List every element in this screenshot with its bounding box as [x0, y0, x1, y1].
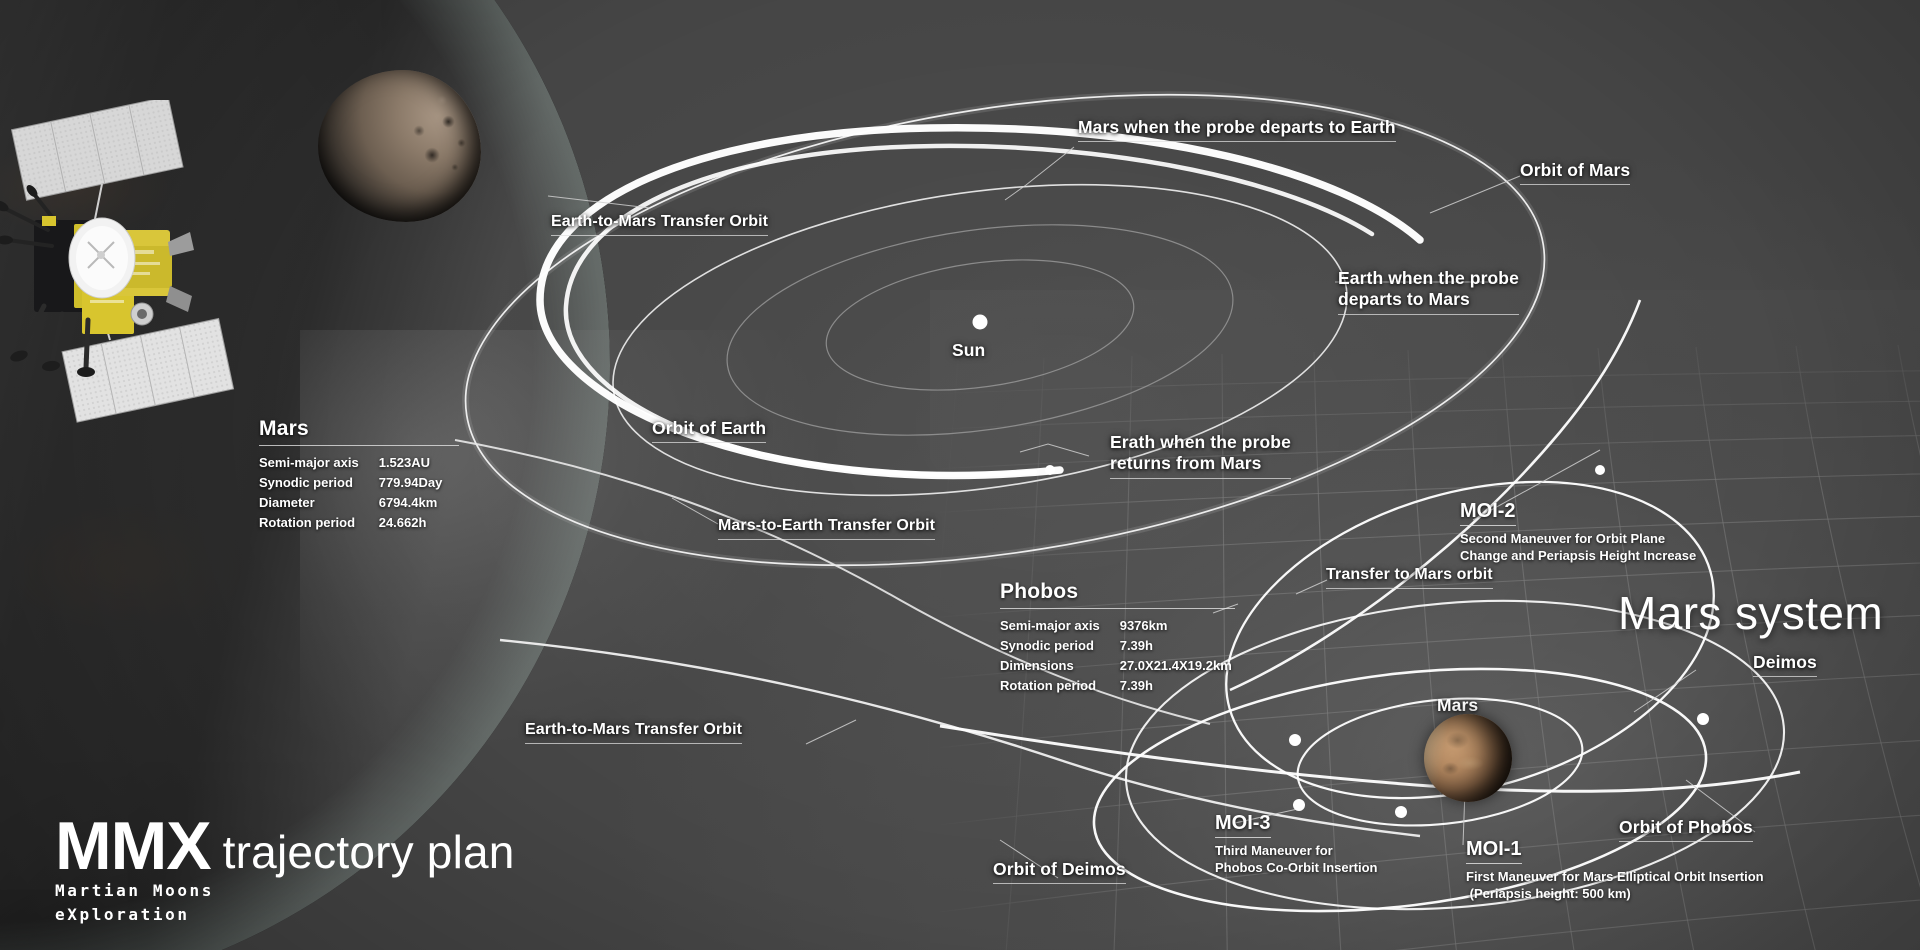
- moi-3-rule: [1215, 837, 1271, 838]
- mars-row-3-value: 24.662h: [379, 512, 443, 532]
- logo-headline: trajectory plan: [223, 829, 515, 878]
- table-row: Diameter 6794.4km: [259, 492, 442, 512]
- callout-moi-2: MOI-2 Second Maneuver for Orbit Plane Ch…: [1460, 500, 1696, 564]
- mars-row-0-value: 1.523AU: [379, 452, 443, 472]
- info-panel-phobos: Phobos Semi-major axis 9376km Synodic pe…: [1000, 580, 1235, 695]
- phobos-row-2-value: 27.0X21.4X19.2km: [1120, 655, 1232, 675]
- phobos-row-2-key: Dimensions: [1000, 655, 1120, 675]
- phobos-crater-texture: [318, 70, 481, 222]
- mars-row-2-key: Diameter: [259, 492, 379, 512]
- table-row: Rotation period 7.39h: [1000, 675, 1232, 695]
- mmx-logo-block: MMX trajectory plan Martian Moons eXplor…: [55, 815, 515, 927]
- table-row: Dimensions 27.0X21.4X19.2km: [1000, 655, 1232, 675]
- info-panel-phobos-title: Phobos: [1000, 580, 1235, 604]
- info-panel-mars: Mars Semi-major axis 1.523AU Synodic per…: [259, 417, 459, 532]
- section-title-mars-system: Mars system: [1618, 586, 1883, 640]
- label-earth-departs-to-mars: Earth when the probe departs to Mars: [1338, 268, 1519, 315]
- label-earth-to-mars-transfer-top: Earth-to-Mars Transfer Orbit: [551, 212, 768, 236]
- moi-2-rule: [1460, 525, 1516, 526]
- mars-row-1-key: Synodic period: [259, 472, 379, 492]
- phobos-row-0-key: Semi-major axis: [1000, 615, 1120, 635]
- label-mars-to-earth-transfer: Mars-to-Earth Transfer Orbit: [718, 516, 935, 540]
- info-panel-mars-title: Mars: [259, 417, 459, 441]
- mars-row-2-value: 6794.4km: [379, 492, 443, 512]
- phobos-asteroid-image: [318, 70, 481, 222]
- label-mars-departs-to-earth: Mars when the probe departs to Earth: [1078, 117, 1396, 142]
- moi-3-description: Third Maneuver for Phobos Co-Orbit Inser…: [1215, 842, 1378, 876]
- mars-planet-globe-small: [1424, 714, 1512, 802]
- phobos-row-3-value: 7.39h: [1120, 675, 1232, 695]
- label-orbit-of-mars: Orbit of Mars: [1520, 160, 1630, 185]
- mars-row-3-key: Rotation period: [259, 512, 379, 532]
- moi-2-description: Second Maneuver for Orbit Plane Change a…: [1460, 530, 1696, 564]
- moi-1-rule: [1466, 863, 1522, 864]
- logo-subtitle-line1: Martian Moons: [55, 880, 515, 903]
- mars-row-0-key: Semi-major axis: [259, 452, 379, 472]
- moi-1-description: First Maneuver for Mars Elliptical Orbit…: [1466, 868, 1764, 902]
- phobos-row-1-value: 7.39h: [1120, 635, 1232, 655]
- table-row: Semi-major axis 9376km: [1000, 615, 1232, 635]
- mmx-trajectory-infographic: Mars when the probe departs to Earth Orb…: [0, 0, 1920, 950]
- label-orbit-of-earth: Orbit of Earth: [652, 418, 766, 443]
- logo-subtitle-line2: eXploration: [55, 904, 515, 927]
- moi-3-title: MOI-3: [1215, 812, 1378, 835]
- phobos-row-0-value: 9376km: [1120, 615, 1232, 635]
- info-panel-mars-table: Semi-major axis 1.523AU Synodic period 7…: [259, 452, 442, 532]
- label-mars-planet: Mars: [1437, 695, 1478, 716]
- info-panel-phobos-table: Semi-major axis 9376km Synodic period 7.…: [1000, 615, 1232, 695]
- info-panel-phobos-rule: [1000, 608, 1235, 609]
- logo-mmx: MMX: [55, 815, 211, 878]
- moi-1-title: MOI-1: [1466, 838, 1764, 861]
- label-earth-returns-from-mars: Erath when the probe returns from Mars: [1110, 432, 1291, 479]
- label-orbit-of-deimos: Orbit of Deimos: [993, 859, 1126, 884]
- phobos-row-3-key: Rotation period: [1000, 675, 1120, 695]
- label-earth-to-mars-transfer-bottom: Earth-to-Mars Transfer Orbit: [525, 720, 742, 744]
- info-panel-mars-rule: [259, 445, 459, 446]
- mmx-spacecraft-illustration: [0, 100, 290, 440]
- callout-moi-3: MOI-3 Third Maneuver for Phobos Co-Orbit…: [1215, 812, 1378, 876]
- phobos-row-1-key: Synodic period: [1000, 635, 1120, 655]
- label-transfer-to-mars-orbit: Transfer to Mars orbit: [1326, 565, 1493, 589]
- label-deimos: Deimos: [1753, 652, 1817, 677]
- label-sun: Sun: [952, 340, 985, 361]
- table-row: Semi-major axis 1.523AU: [259, 452, 442, 472]
- callout-moi-1: MOI-1 First Maneuver for Mars Elliptical…: [1466, 838, 1764, 902]
- table-row: Synodic period 7.39h: [1000, 635, 1232, 655]
- table-row: Rotation period 24.662h: [259, 512, 442, 532]
- table-row: Synodic period 779.94Day: [259, 472, 442, 492]
- mars-row-1-value: 779.94Day: [379, 472, 443, 492]
- moi-2-title: MOI-2: [1460, 500, 1696, 523]
